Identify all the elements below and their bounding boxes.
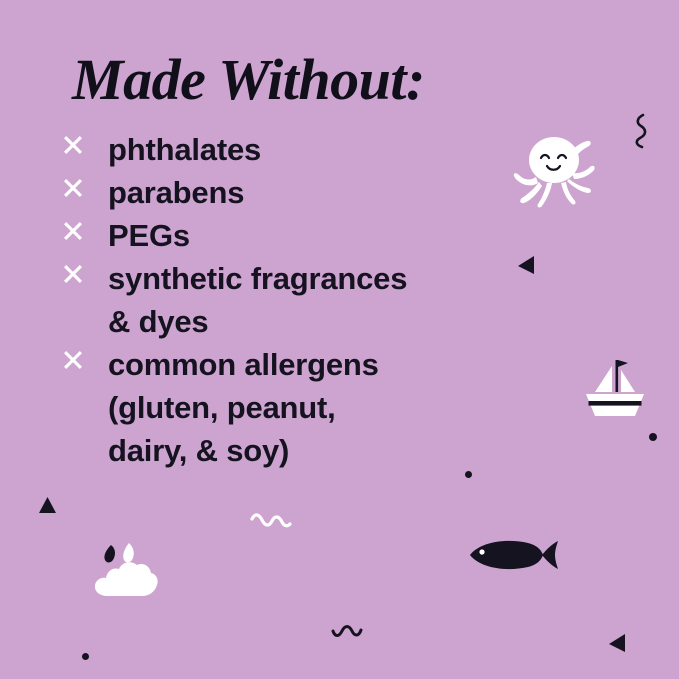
squiggle-vertical-icon	[632, 113, 650, 149]
squiggle-dark-icon	[331, 622, 363, 640]
x-mark-cell	[62, 257, 108, 285]
cloud-splash-icon	[93, 542, 159, 598]
list-item-line: phthalates	[108, 128, 532, 171]
list-item-line: common allergens	[108, 343, 532, 386]
list-item-line: synthetic fragrances	[108, 257, 532, 300]
squiggle-white-icon	[250, 512, 292, 534]
sailboat-icon	[578, 358, 650, 424]
dot-icon	[82, 653, 89, 660]
fish-icon	[466, 538, 561, 572]
list-item: synthetic fragrances & dyes	[62, 257, 532, 343]
list-item: phthalates	[62, 128, 532, 171]
list-item-text: common allergens (gluten, peanut, dairy,…	[108, 343, 532, 472]
made-without-list: phthalates parabens	[62, 128, 532, 472]
list-item-text: phthalates	[108, 128, 532, 171]
triangle-left-icon	[608, 633, 626, 653]
made-without-poster: Made Without: phthalates	[0, 0, 679, 679]
octopus-icon	[512, 133, 596, 206]
list-item-line: PEGs	[108, 214, 532, 257]
triangle-left-icon	[517, 255, 535, 275]
x-mark-icon	[62, 263, 84, 285]
list-item-line: dairy, & soy)	[108, 429, 532, 472]
x-mark-cell	[62, 343, 108, 371]
list-item-text: parabens	[108, 171, 532, 214]
x-mark-icon	[62, 177, 84, 199]
dot-icon	[465, 471, 472, 478]
dot-icon	[649, 433, 657, 441]
x-mark-icon	[62, 220, 84, 242]
list-item-text: synthetic fragrances & dyes	[108, 257, 532, 343]
list-item-text: PEGs	[108, 214, 532, 257]
list-item: PEGs	[62, 214, 532, 257]
list-item-line: parabens	[108, 171, 532, 214]
list-item-line: & dyes	[108, 300, 532, 343]
x-mark-icon	[62, 134, 84, 156]
triangle-up-icon	[38, 496, 57, 514]
list-item: parabens	[62, 171, 532, 214]
x-mark-icon	[62, 349, 84, 371]
page-title: Made Without:	[72, 50, 425, 111]
x-mark-cell	[62, 214, 108, 242]
x-mark-cell	[62, 128, 108, 156]
x-mark-cell	[62, 171, 108, 199]
list-item: common allergens (gluten, peanut, dairy,…	[62, 343, 532, 472]
list-item-line: (gluten, peanut,	[108, 386, 532, 429]
